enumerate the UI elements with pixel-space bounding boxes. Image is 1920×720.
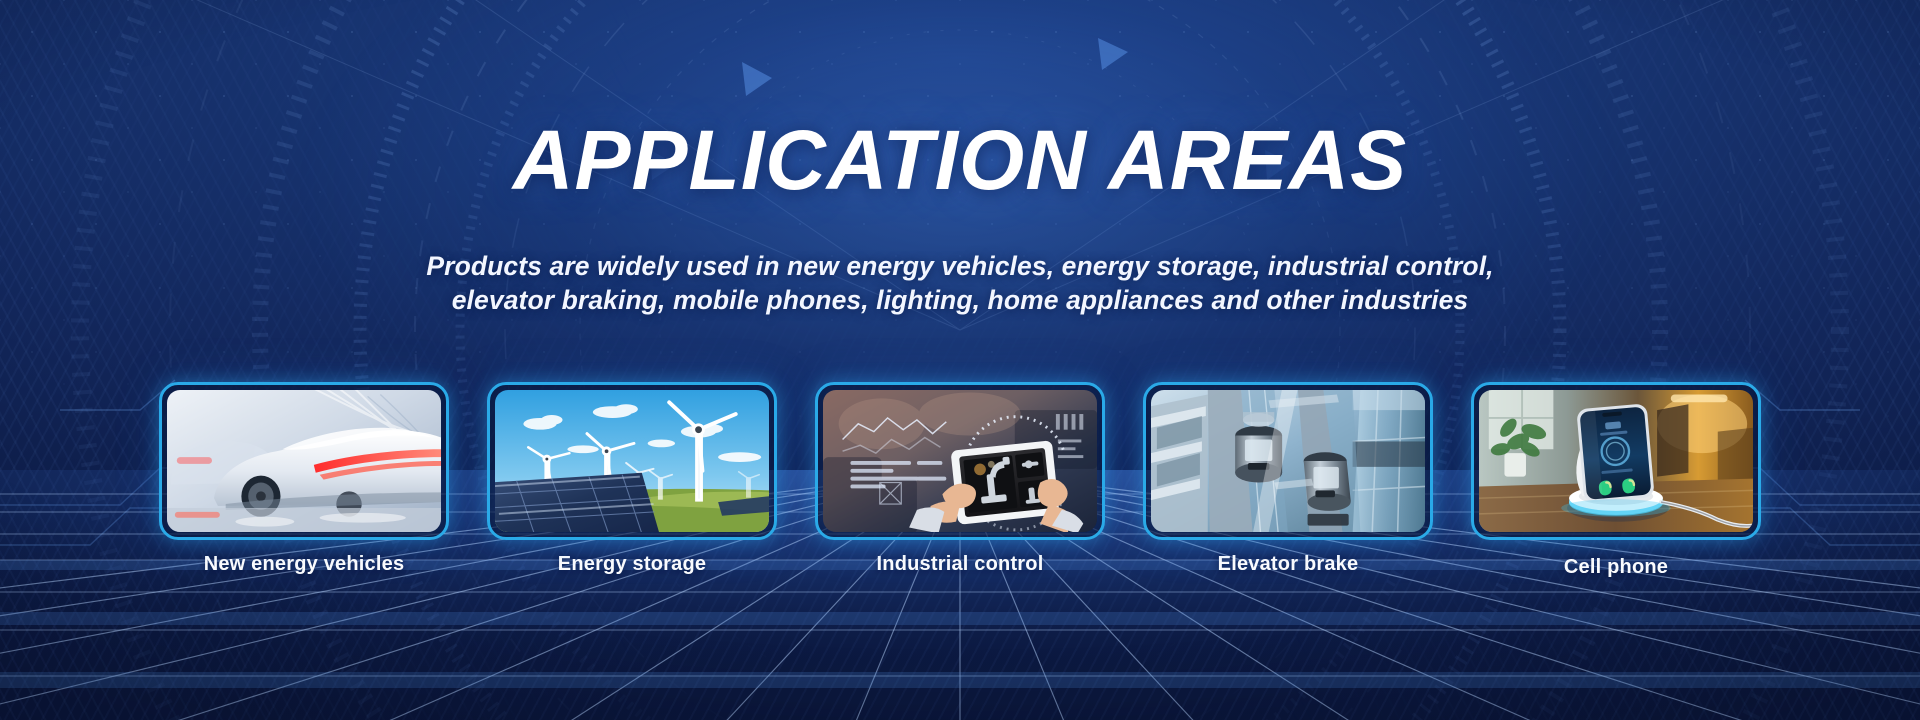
glass-elevator-image [1151, 390, 1425, 532]
wireless-charging-phone-image [1479, 390, 1753, 532]
solar-wind-farm-image [495, 390, 769, 532]
card-label: Industrial control [815, 553, 1105, 576]
application-card-list: New energy vehicles [0, 382, 1920, 612]
card-frame [487, 382, 777, 540]
card-frame [159, 382, 449, 540]
sports-car-image [167, 390, 441, 532]
card-frame [815, 382, 1105, 540]
card-frame [1471, 382, 1761, 540]
page-subtitle: Products are widely used in new energy v… [395, 249, 1525, 318]
card-label: Elevator brake [1143, 553, 1433, 576]
page-title: APPLICATION AREAS [0, 118, 1920, 202]
application-card-industrial-control[interactable]: Industrial control [815, 382, 1105, 576]
application-card-cell-phone[interactable]: Cell phone [1471, 382, 1761, 579]
application-card-new-energy-vehicles[interactable]: New energy vehicles [159, 382, 449, 576]
subtitle-line-1: Products are widely used in new energy v… [395, 249, 1525, 283]
card-label: New energy vehicles [159, 553, 449, 576]
application-card-energy-storage[interactable]: Energy storage [487, 382, 777, 576]
card-label: Energy storage [487, 553, 777, 576]
card-label: Cell phone [1471, 556, 1761, 579]
card-frame [1143, 382, 1433, 540]
application-areas-banner: APPLICATION AREAS Products are widely us… [0, 0, 1920, 720]
subtitle-line-2: elevator braking, mobile phones, lightin… [395, 283, 1525, 317]
application-card-elevator-brake[interactable]: Elevator brake [1143, 382, 1433, 576]
industrial-tablet-image [823, 390, 1097, 532]
